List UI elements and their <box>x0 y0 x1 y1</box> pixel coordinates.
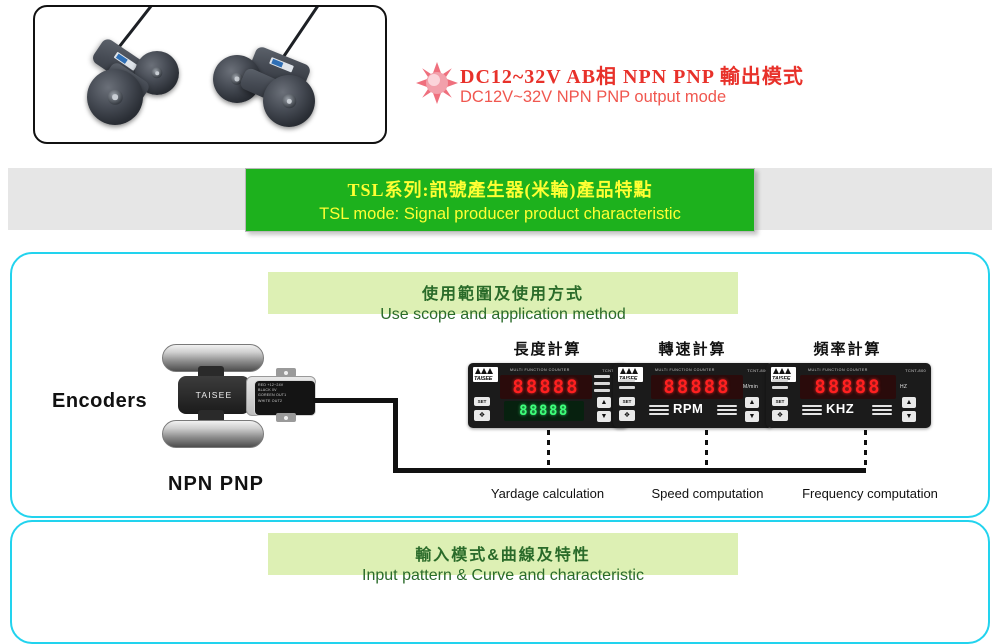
up-button-1[interactable]: ▲ <box>597 397 611 408</box>
stripe-right-2 <box>717 405 737 417</box>
primary-digits-2: 88888 <box>663 378 730 397</box>
led-indicator-1a <box>594 375 610 378</box>
encoder-diagram: TAISEE RED +12~24V BLACK 0V GOREEN OUT1 … <box>150 340 335 450</box>
product-photo-frame <box>33 5 387 144</box>
secondary-digits-1: 88888 <box>519 404 569 418</box>
bus-line-horizontal <box>393 468 866 473</box>
counter-head-1: MULTI FUNCTION COUNTER <box>510 368 570 372</box>
stripe-right-3 <box>872 405 892 417</box>
led-indicator-3a <box>772 379 788 382</box>
counter-primary-display-1: 88888 <box>500 375 592 399</box>
counter-head-2: MULTI FUNCTION COUNTER <box>655 368 715 372</box>
red-heading-en: DC12V~32V NPN PNP output mode <box>460 88 726 107</box>
counter-head-3: MULTI FUNCTION COUNTER <box>808 368 868 372</box>
counter-device-2: TAISEE MULTI FUNCTION COUNTER TCNT-800 8… <box>613 363 773 428</box>
set-button-1[interactable]: SET <box>474 397 490 406</box>
counter-model-2: TCNT-800 <box>747 368 768 373</box>
connector-tab-bottom <box>276 413 296 422</box>
encoders-label: Encoders <box>52 390 147 413</box>
drop-line-counter-1 <box>547 430 550 470</box>
bus-line-from-encoder <box>313 398 398 403</box>
mode-button-3[interactable]: ❖ <box>772 410 788 421</box>
down-button-1[interactable]: ▼ <box>597 411 611 422</box>
wheel-hub <box>151 67 162 78</box>
encoder-wheel-left-front <box>87 69 143 125</box>
unit-small-2: M/min <box>743 384 758 390</box>
up-button-2[interactable]: ▲ <box>745 397 759 408</box>
unit-big-3: KHZ <box>826 401 854 416</box>
tsl-series-banner: TSL系列:訊號產生器(米輪)產品特點 TSL mode: Signal pro… <box>245 168 755 232</box>
stripe-left-3 <box>802 405 822 417</box>
counter-title-2: 轉速計算 <box>625 338 760 359</box>
input-pattern-title-cn: 輸入模式&曲線及特性 <box>268 533 738 565</box>
input-pattern-title-box: 輸入模式&曲線及特性 Input pattern & Curve and cha… <box>268 533 738 575</box>
drop-line-counter-3 <box>864 430 867 470</box>
stripe-left-2 <box>649 405 669 417</box>
primary-digits-3: 88888 <box>814 378 881 397</box>
led-indicator-2a <box>619 379 635 382</box>
banner-title-en: TSL mode: Signal producer product charac… <box>246 205 754 224</box>
wire-color-legend: RED +12~24V BLACK 0V GOREEN OUT1 WHITE O… <box>254 380 316 416</box>
mode-button-1[interactable]: ❖ <box>474 410 490 421</box>
unit-big-2: RPM <box>673 401 703 416</box>
set-button-2[interactable]: SET <box>619 397 635 406</box>
use-scope-title-box: 使用範圍及使用方式 Use scope and application meth… <box>268 272 738 314</box>
down-button-3[interactable]: ▼ <box>902 411 916 422</box>
counter-device-1: TAISEE MULTI FUNCTION COUNTER TCNT-800 8… <box>468 363 628 428</box>
counter-caption-3: Frequency computation <box>755 486 985 501</box>
counter-primary-display-3: 88888 <box>800 375 896 399</box>
counter-title-3: 頻率計算 <box>780 338 915 359</box>
unit-small-3: HZ <box>900 384 907 390</box>
up-button-3[interactable]: ▲ <box>902 397 916 408</box>
led-indicator-1c <box>594 389 610 392</box>
encoder-body-block: TAISEE <box>178 376 250 414</box>
counter-title-1: 長度計算 <box>480 338 615 359</box>
counter-primary-display-2: 88888 <box>651 375 743 399</box>
led-indicator-2b <box>619 386 635 389</box>
encoder-wheel-right-front <box>263 75 315 127</box>
red-heading-cn: DC12~32V AB相 NPN PNP 輸出模式 <box>460 60 804 89</box>
wheel-hub <box>108 90 123 105</box>
counter-device-3: TAISEE MULTI FUNCTION COUNTER TCNT-800 8… <box>766 363 931 428</box>
banner-title-cn: TSL系列:訊號產生器(米輪)產品特點 <box>246 176 754 202</box>
counter-secondary-display-1: 88888 <box>504 401 584 421</box>
encoder-label-right <box>269 57 293 72</box>
wheel-hub <box>282 94 296 108</box>
input-pattern-title-en: Input pattern & Curve and characteristic <box>268 565 738 585</box>
set-button-3[interactable]: SET <box>772 397 788 406</box>
counter-logo-1: TAISEE <box>473 367 498 382</box>
use-scope-title-en: Use scope and application method <box>268 304 738 324</box>
led-indicator-1b <box>594 382 610 385</box>
counter-model-3: TCNT-800 <box>905 368 926 373</box>
counter-logo-text-1: TAISEE <box>474 376 492 382</box>
encoder-roller-bottom <box>162 420 264 448</box>
wire-legend-line-3: WHITE OUT2 <box>258 399 312 404</box>
primary-digits-1: 88888 <box>512 378 579 397</box>
drop-line-counter-2 <box>705 430 708 470</box>
down-button-2[interactable]: ▼ <box>745 411 759 422</box>
use-scope-title-cn: 使用範圍及使用方式 <box>268 272 738 304</box>
bus-line-vertical <box>393 398 398 473</box>
cable-right <box>280 5 322 61</box>
connector-tab-top <box>276 368 296 377</box>
npn-pnp-label: NPN PNP <box>168 473 264 496</box>
encoder-brand-label: TAISEE <box>178 390 250 400</box>
mode-button-2[interactable]: ❖ <box>619 410 635 421</box>
sun-burst-icon <box>416 62 458 104</box>
led-indicator-3b <box>772 386 788 389</box>
